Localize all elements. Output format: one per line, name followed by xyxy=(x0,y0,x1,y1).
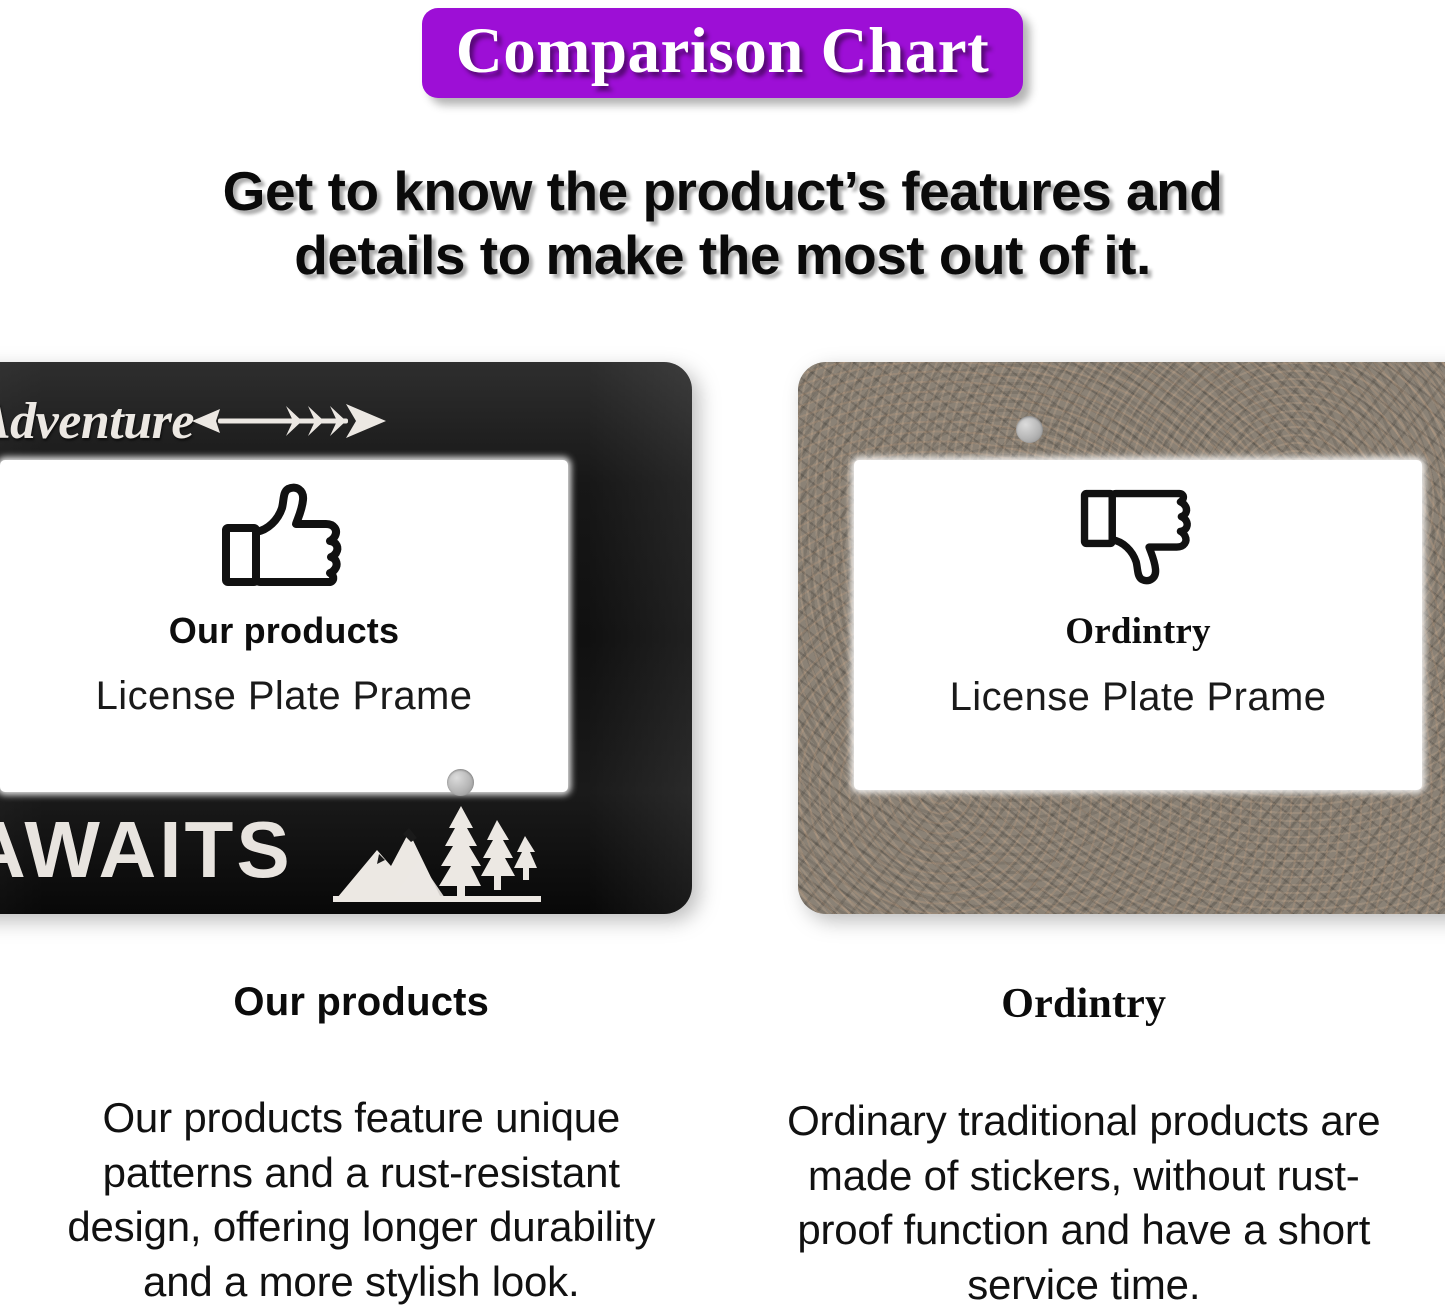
comparison-column-ordinary: Ordintry Ordinary traditional products a… xyxy=(723,980,1445,1314)
ordinary-window-content: Ordintry License Plate Prame xyxy=(854,460,1422,790)
our-product-label: Our products xyxy=(169,610,399,652)
product-image-ordinary: Ordintry License Plate Prame xyxy=(798,362,1445,914)
adventure-script-text: Adventure xyxy=(0,392,194,451)
window-chamfer xyxy=(854,460,898,492)
ordinary-sublabel: License Plate Prame xyxy=(950,675,1327,720)
our-product-window-content: Our products License Plate Prame xyxy=(0,460,568,792)
awaits-text: AWAITS xyxy=(0,810,293,890)
subtitle-line-2: details to make the most out of it. xyxy=(120,224,1325,288)
comparison-heading-our-product: Our products xyxy=(40,980,683,1025)
title-banner-container: Comparison Chart xyxy=(0,8,1445,98)
subtitle-line-1: Get to know the product’s features and xyxy=(120,160,1325,224)
product-comparison-row: Adventure AWAITS xyxy=(0,352,1445,932)
plate-window-our-product: Our products License Plate Prame xyxy=(0,460,568,792)
product-image-our-product: Adventure AWAITS xyxy=(0,362,692,914)
comparison-text-row: Our products Our products feature unique… xyxy=(0,980,1445,1314)
ordinary-label: Ordintry xyxy=(1065,610,1210,653)
page-subtitle: Get to know the product’s features and d… xyxy=(0,160,1445,288)
our-product-sublabel: License Plate Prame xyxy=(96,674,473,719)
mounting-hole xyxy=(447,769,474,796)
plate-window-ordinary: Ordintry License Plate Prame xyxy=(854,460,1422,790)
comparison-column-our-product: Our products Our products feature unique… xyxy=(0,980,723,1314)
adventure-decoration: Adventure xyxy=(0,384,632,458)
mounting-hole xyxy=(1016,416,1043,443)
arrow-icon xyxy=(190,392,400,450)
thumbs-down-icon xyxy=(1079,482,1197,590)
window-chamfer xyxy=(0,460,46,494)
title-banner: Comparison Chart xyxy=(422,8,1023,98)
mountain-pine-icon xyxy=(333,798,541,902)
comparison-body-ordinary: Ordinary traditional products are made o… xyxy=(763,1094,1406,1312)
comparison-body-our-product: Our products feature unique patterns and… xyxy=(40,1091,683,1309)
thumbs-up-icon xyxy=(220,482,348,590)
page-title: Comparison Chart xyxy=(456,18,989,84)
awaits-decoration: AWAITS xyxy=(0,800,632,900)
comparison-heading-ordinary: Ordintry xyxy=(763,980,1406,1028)
